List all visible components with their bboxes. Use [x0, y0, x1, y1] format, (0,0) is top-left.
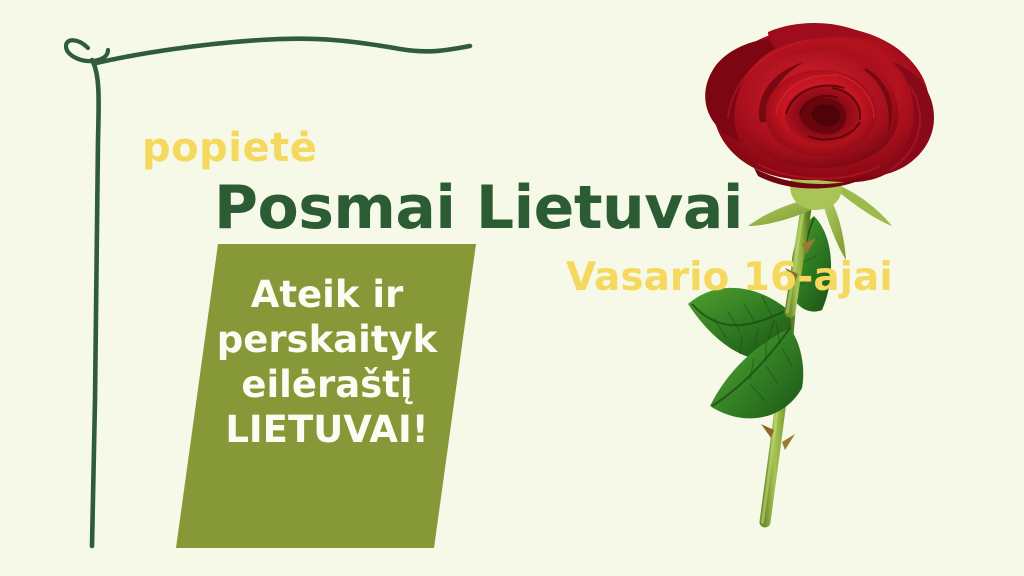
cta-line-2: perskaityk: [196, 317, 458, 362]
cta-line-1: Ateik ir: [196, 272, 458, 317]
poster-canvas: popietė Posmai Lietuvai Vasario 16-ajai …: [0, 0, 1024, 576]
page-title: Posmai Lietuvai: [214, 178, 743, 238]
cta-text-block: Ateik ir perskaityk eilėraštį LIETUVAI!: [196, 272, 458, 453]
cta-line-4: LIETUVAI!: [196, 407, 458, 452]
kicker-text: popietė: [142, 128, 317, 168]
subtitle-text: Vasario 16-ajai: [566, 258, 893, 297]
cta-line-3: eilėraštį: [196, 362, 458, 407]
